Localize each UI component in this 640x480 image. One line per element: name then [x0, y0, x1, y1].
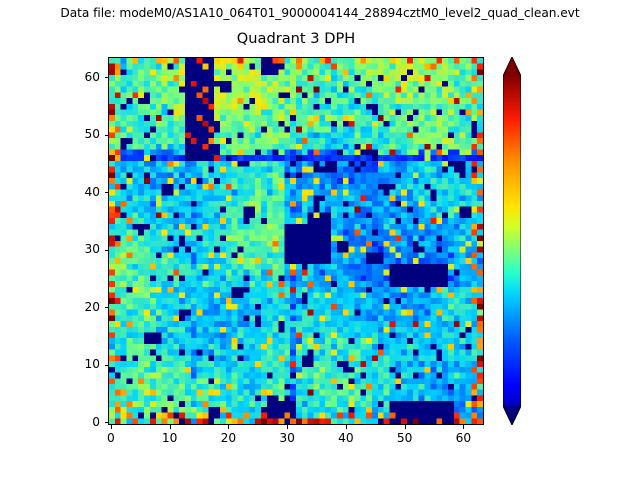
y-tick-label: 40: [62, 185, 100, 200]
x-tick-mark: [170, 425, 171, 429]
dph-heatmap-image[interactable]: [109, 58, 483, 424]
y-tick-label: 60: [62, 70, 100, 85]
y-tick-label: 20: [62, 300, 100, 315]
page-title: Quadrant 3 DPH: [108, 30, 484, 48]
colorbar[interactable]: 050100150200250300: [503, 57, 521, 425]
x-tick-label: 20: [208, 431, 248, 446]
y-tick-mark: [105, 307, 109, 308]
x-tick-label: 0: [91, 431, 131, 446]
x-tick-label: 30: [267, 431, 307, 446]
y-tick-mark: [105, 250, 109, 251]
x-tick-mark: [405, 425, 406, 429]
x-tick-mark: [287, 425, 288, 429]
colorbar-gradient: [503, 57, 521, 425]
x-tick-label: 10: [150, 431, 190, 446]
y-tick-mark: [105, 192, 109, 193]
y-tick-mark: [105, 422, 109, 423]
y-tick-label: 10: [62, 357, 100, 372]
heatmap-axes[interactable]: [108, 57, 484, 425]
y-tick-label: 50: [62, 127, 100, 142]
y-tick-mark: [105, 365, 109, 366]
y-tick-label: 30: [62, 242, 100, 257]
data-file-suptitle: Data file: modeM0/AS1A10_064T01_90000041…: [0, 6, 640, 21]
x-tick-label: 40: [326, 431, 366, 446]
matplotlib-figure: Data file: modeM0/AS1A10_064T01_90000041…: [0, 0, 640, 480]
y-tick-mark: [105, 135, 109, 136]
x-tick-mark: [111, 425, 112, 429]
y-tick-mark: [105, 77, 109, 78]
x-tick-mark: [228, 425, 229, 429]
x-tick-mark: [346, 425, 347, 429]
x-tick-label: 60: [443, 431, 483, 446]
x-tick-label: 50: [385, 431, 425, 446]
y-tick-label: 0: [62, 415, 100, 430]
x-tick-mark: [463, 425, 464, 429]
